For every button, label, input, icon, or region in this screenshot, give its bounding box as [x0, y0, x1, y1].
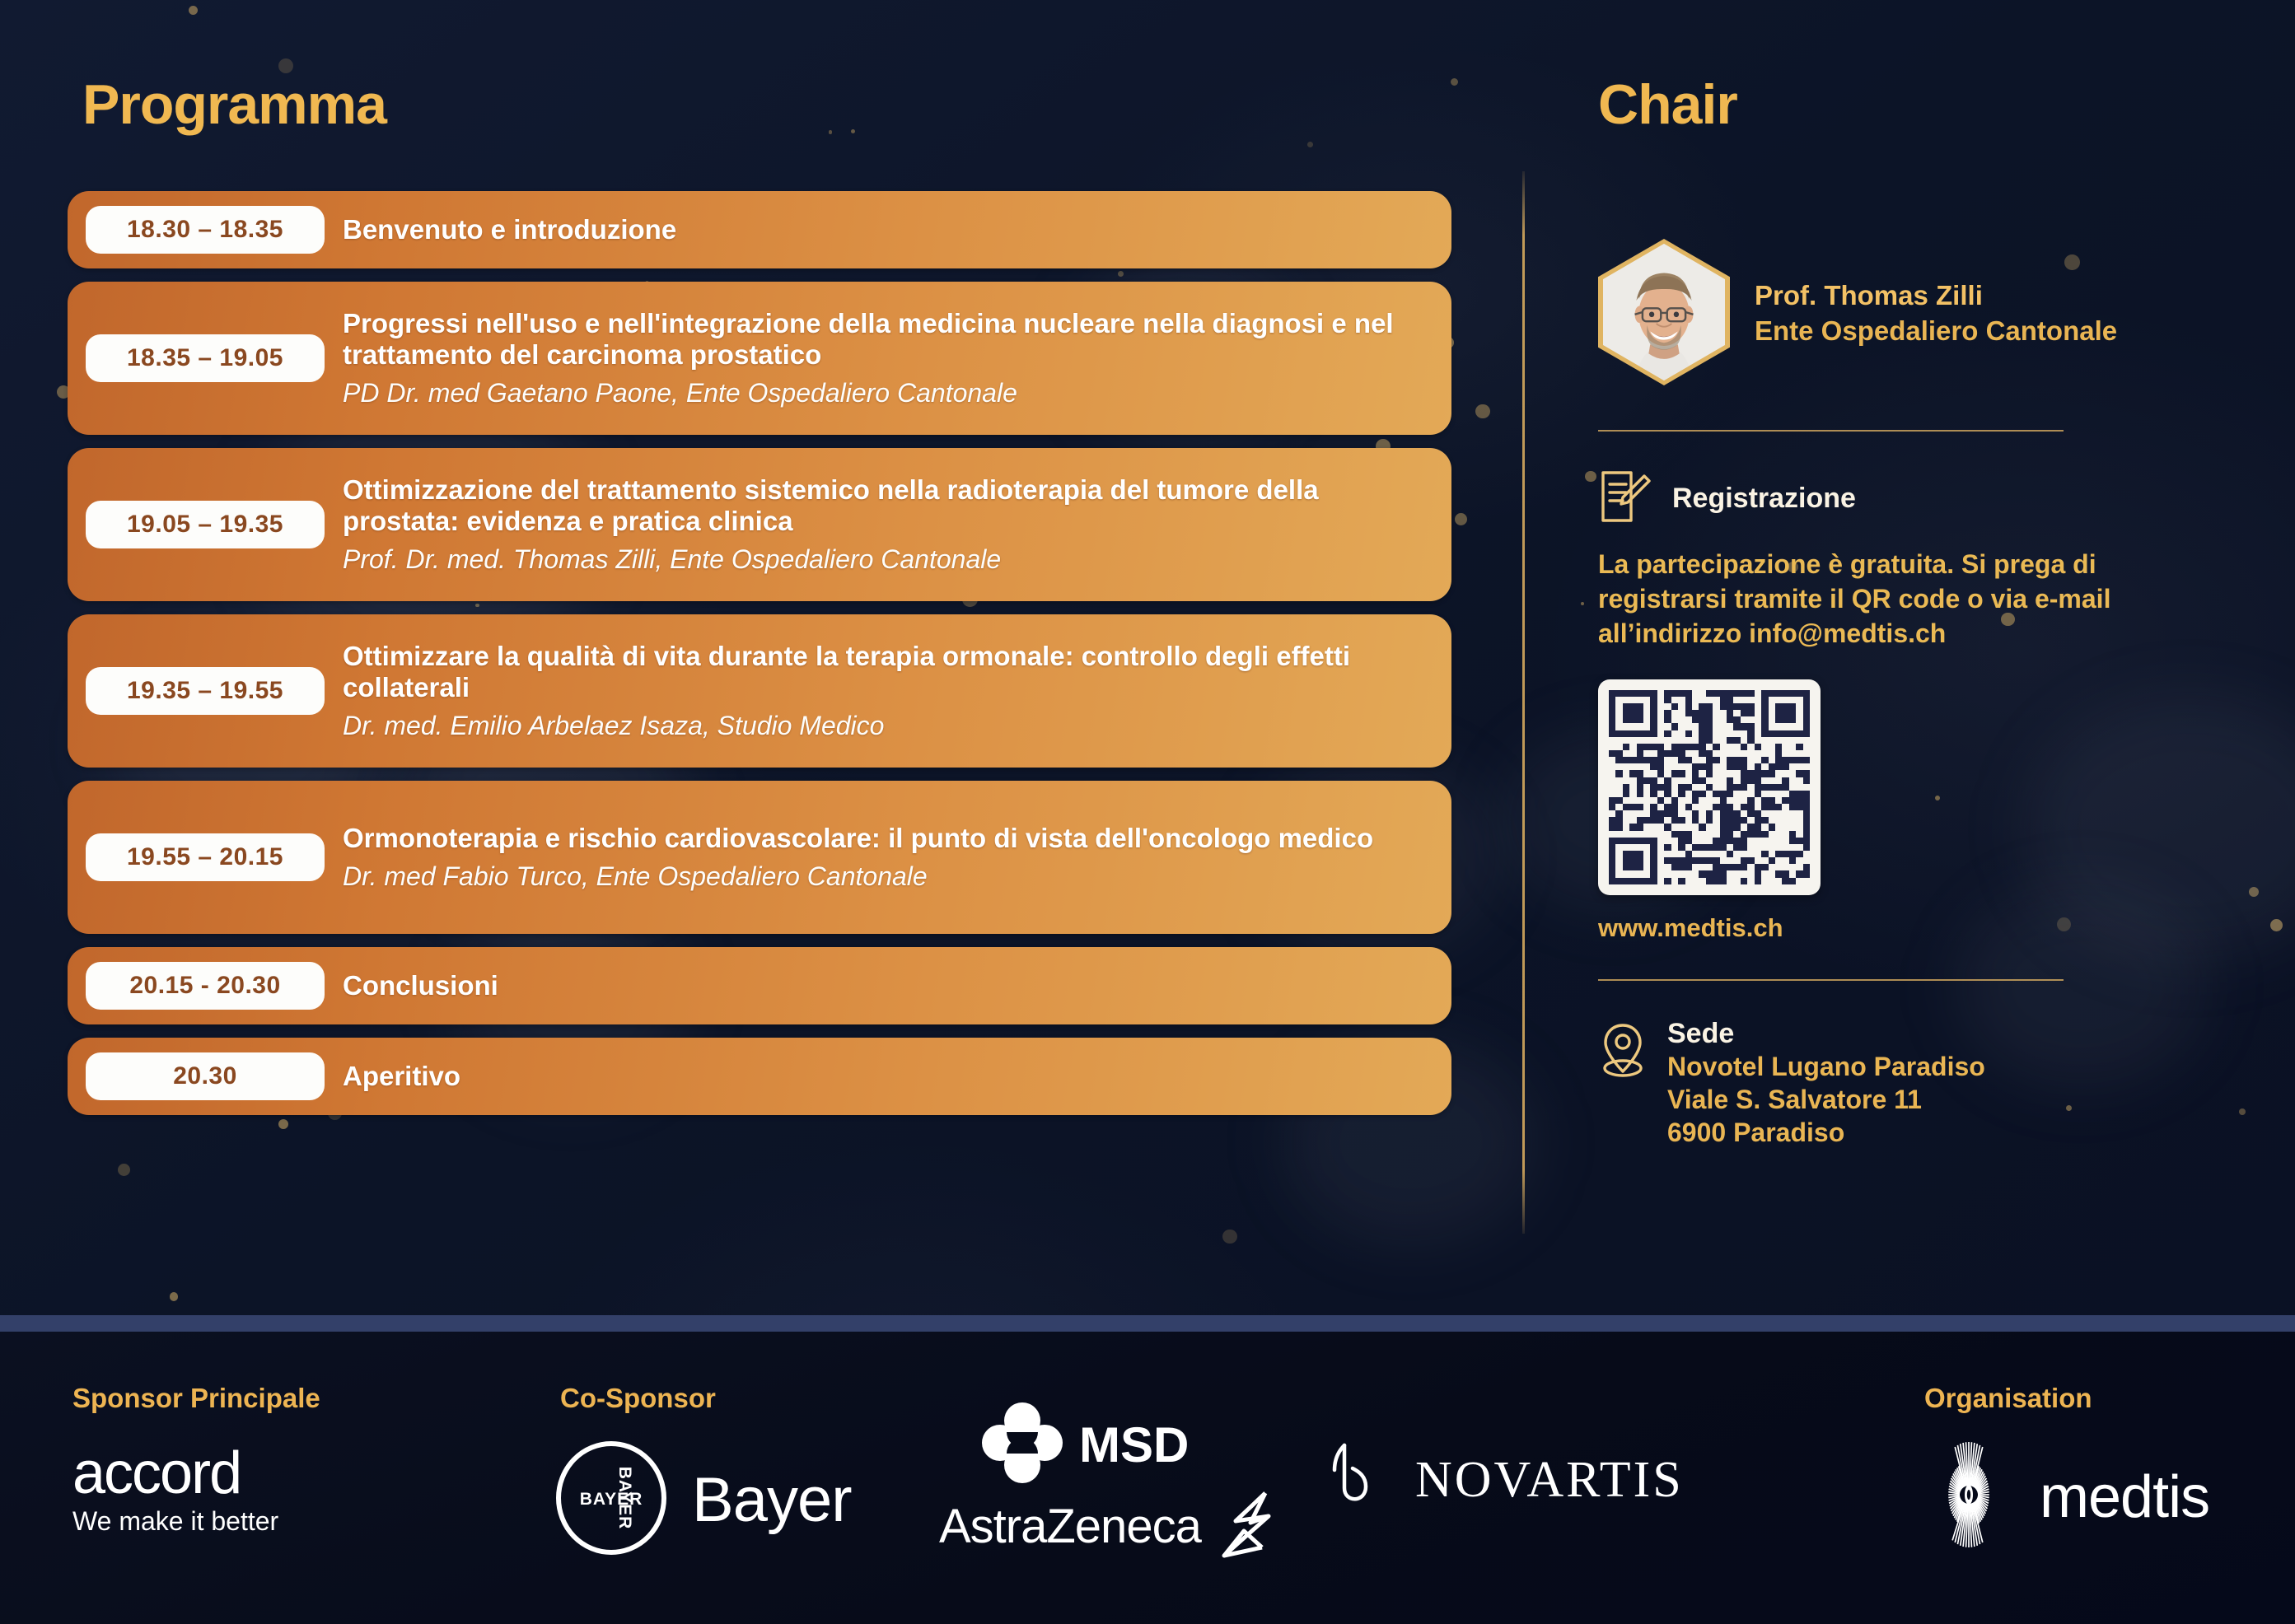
organisation-label: Organisation: [1924, 1383, 2092, 1414]
chair-person: Prof. Thomas Zilli Ente Ospedaliero Cant…: [1598, 239, 2241, 385]
session-topic: Aperitivo: [343, 1061, 460, 1093]
session-body: Ottimizzazione del trattamento sistemico…: [343, 474, 1451, 576]
venue-title: Sede: [1667, 1017, 1985, 1050]
programme-list: 18.30 – 18.35Benvenuto e introduzione18.…: [68, 191, 1451, 1128]
chair-name: Prof. Thomas Zilli: [1755, 278, 2117, 314]
astrazeneca-wordmark: AstraZeneca: [939, 1499, 1201, 1554]
session-topic: Ottimizzare la qualità di vita durante l…: [343, 641, 1427, 704]
astrazeneca-mark-icon: [1208, 1485, 1280, 1568]
msd-wordmark: MSD: [1079, 1416, 1189, 1473]
time-pill: 19.35 – 19.55: [86, 667, 325, 715]
location-pin-icon: [1598, 1020, 1648, 1085]
venue-line-2: Viale S. Salvatore 11: [1667, 1083, 1985, 1116]
sponsor-principale-block: Sponsor Principale accord We make it bet…: [72, 1383, 320, 1537]
co-sponsor-label: Co-Sponsor: [560, 1383, 716, 1414]
time-pill: 18.35 – 19.05: [86, 334, 325, 382]
portrait-illustration: [1603, 244, 1725, 380]
accord-wordmark: accord: [72, 1445, 320, 1501]
venue-section: Sede Novotel Lugano Paradiso Viale S. Sa…: [1598, 1017, 2241, 1149]
programme-row: 19.35 – 19.55Ottimizzare la qualità di v…: [68, 614, 1451, 768]
sponsor-principale-label: Sponsor Principale: [72, 1383, 320, 1414]
chair-column: Prof. Thomas Zilli Ente Ospedaliero Cant…: [1598, 239, 2241, 1149]
session-body: Aperitivo: [343, 1061, 485, 1093]
medtis-logo: medtis: [1919, 1440, 2209, 1553]
footer: Sponsor Principale accord We make it bet…: [0, 1332, 2295, 1624]
medtis-starburst-icon: [1919, 1440, 2018, 1553]
session-speaker: PD Dr. med Gaetano Paone, Ente Ospedalie…: [343, 377, 1427, 408]
time-pill: 19.55 – 20.15: [86, 833, 325, 881]
registration-icon: [1598, 468, 1651, 530]
programme-row: 19.55 – 20.15Ormonoterapia e rischio car…: [68, 781, 1451, 934]
venue-line-3: 6900 Paradiso: [1667, 1116, 1985, 1149]
website-link[interactable]: www.medtis.ch: [1598, 913, 2241, 943]
msd-logo: MSD: [982, 1402, 1189, 1487]
medtis-wordmark: medtis: [2040, 1463, 2209, 1531]
session-body: Progressi nell'uso e nell'integrazione d…: [343, 308, 1451, 409]
chair-organisation: Ente Ospedaliero Cantonale: [1755, 314, 2117, 349]
venue-line-1: Novotel Lugano Paradiso: [1667, 1050, 1985, 1083]
novartis-wordmark: NOVARTIS: [1415, 1451, 1684, 1510]
bayer-wordmark: Bayer: [692, 1464, 852, 1536]
chair-details: Prof. Thomas Zilli Ente Ospedaliero Cant…: [1755, 275, 2117, 349]
qr-code[interactable]: [1598, 679, 1821, 895]
programme-row: 18.35 – 19.05Progressi nell'uso e nell'i…: [68, 282, 1451, 435]
registration-header: Registrazione: [1598, 468, 2241, 530]
time-pill: 20.15 - 20.30: [86, 962, 325, 1010]
msd-mark-icon: [982, 1402, 1063, 1487]
bayer-cross-icon: BAYER BAYER: [554, 1440, 669, 1560]
footer-separator-band: [0, 1315, 2295, 1332]
registration-section: Registrazione La partecipazione è gratui…: [1598, 468, 2241, 943]
bayer-logo: BAYER BAYER Bayer: [554, 1440, 852, 1560]
time-pill: 18.30 – 18.35: [86, 206, 325, 254]
venue-text: Sede Novotel Lugano Paradiso Viale S. Sa…: [1667, 1017, 1985, 1149]
session-body: Conclusioni: [343, 970, 523, 1002]
session-topic: Progressi nell'uso e nell'integrazione d…: [343, 308, 1427, 371]
programme-row: 19.05 – 19.35Ottimizzazione del trattame…: [68, 448, 1451, 601]
session-speaker: Prof. Dr. med. Thomas Zilli, Ente Ospeda…: [343, 544, 1427, 575]
organisation-block: Organisation: [1924, 1383, 2092, 1414]
accord-tagline: We make it better: [72, 1506, 320, 1537]
session-topic: Ottimizzazione del trattamento sistemico…: [343, 474, 1427, 538]
astrazeneca-logo: AstraZeneca: [939, 1485, 1280, 1568]
time-pill: 20.30: [86, 1052, 325, 1100]
novartis-logo: NOVARTIS: [1323, 1435, 1684, 1525]
registration-body: La partecipazione è gratuita. Si prega d…: [1598, 548, 2191, 651]
time-pill: 19.05 – 19.35: [86, 501, 325, 548]
registration-title: Registrazione: [1672, 483, 1856, 515]
avatar: [1603, 244, 1725, 380]
poster-stage: Programma 18.30 – 18.35Benvenuto e intro…: [0, 0, 2295, 1624]
session-topic: Ormonoterapia e rischio cardiovascolare:…: [343, 823, 1373, 855]
programme-heading: Programma: [82, 72, 386, 137]
chair-heading: Chair: [1598, 72, 1737, 137]
venue-block: Sede Novotel Lugano Paradiso Viale S. Sa…: [1598, 1017, 2241, 1149]
session-speaker: Dr. med Fabio Turco, Ente Ospedaliero Ca…: [343, 861, 1373, 892]
session-body: Ottimizzare la qualità di vita durante l…: [343, 641, 1451, 742]
session-topic: Conclusioni: [343, 970, 498, 1002]
session-body: Ormonoterapia e rischio cardiovascolare:…: [343, 823, 1398, 892]
avatar-frame: [1598, 239, 1730, 385]
qr-grid: [1609, 690, 1810, 884]
session-body: Benvenuto e introduzione: [343, 214, 701, 246]
accord-logo: accord We make it better: [72, 1445, 320, 1537]
section-divider-bottom: [1598, 979, 2064, 981]
section-divider-top: [1598, 430, 2064, 432]
session-speaker: Dr. med. Emilio Arbelaez Isaza, Studio M…: [343, 710, 1427, 741]
programme-row: 20.30Aperitivo: [68, 1038, 1451, 1115]
svg-text:BAYER: BAYER: [580, 1490, 643, 1509]
programme-row: 20.15 - 20.30Conclusioni: [68, 947, 1451, 1024]
session-topic: Benvenuto e introduzione: [343, 214, 676, 246]
column-divider: [1522, 171, 1525, 1234]
co-sponsor-block: Co-Sponsor: [560, 1383, 716, 1414]
programme-row: 18.30 – 18.35Benvenuto e introduzione: [68, 191, 1451, 268]
novartis-flame-icon: [1323, 1435, 1387, 1525]
